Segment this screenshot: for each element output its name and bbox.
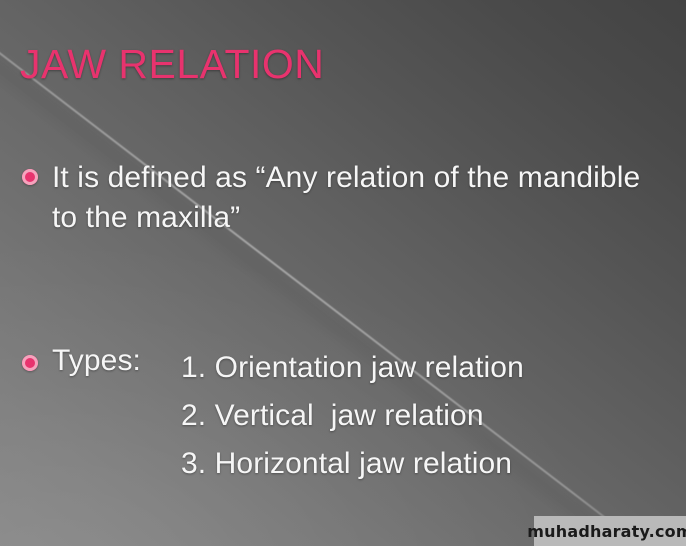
types-bullet-block: Types: 1. Orientation jaw relation 2. Ve…: [22, 344, 676, 488]
target-bullet-icon: [22, 355, 38, 371]
presentation-slide: JAW RELATION It is defined as “Any relat…: [0, 0, 686, 546]
definition-text: It is defined as “Any relation of the ma…: [52, 158, 652, 237]
bullet-item-types: Types: 1. Orientation jaw relation 2. Ve…: [22, 344, 676, 488]
types-label: Types:: [52, 344, 141, 376]
type-item-3: 3. Horizontal jaw relation: [181, 440, 676, 488]
types-list: 1. Orientation jaw relation 2. Vertical …: [181, 344, 676, 488]
definition-bullet-block: It is defined as “Any relation of the ma…: [22, 158, 670, 237]
target-bullet-icon: [22, 169, 38, 185]
slide-title: JAW RELATION: [20, 44, 324, 85]
type-item-1: 1. Orientation jaw relation: [181, 344, 676, 392]
bullet-item-definition: It is defined as “Any relation of the ma…: [22, 158, 670, 237]
watermark-text: muhadharaty.com: [527, 522, 686, 541]
watermark-banner: muhadharaty.com: [534, 516, 686, 546]
type-item-2: 2. Vertical jaw relation: [181, 392, 676, 440]
